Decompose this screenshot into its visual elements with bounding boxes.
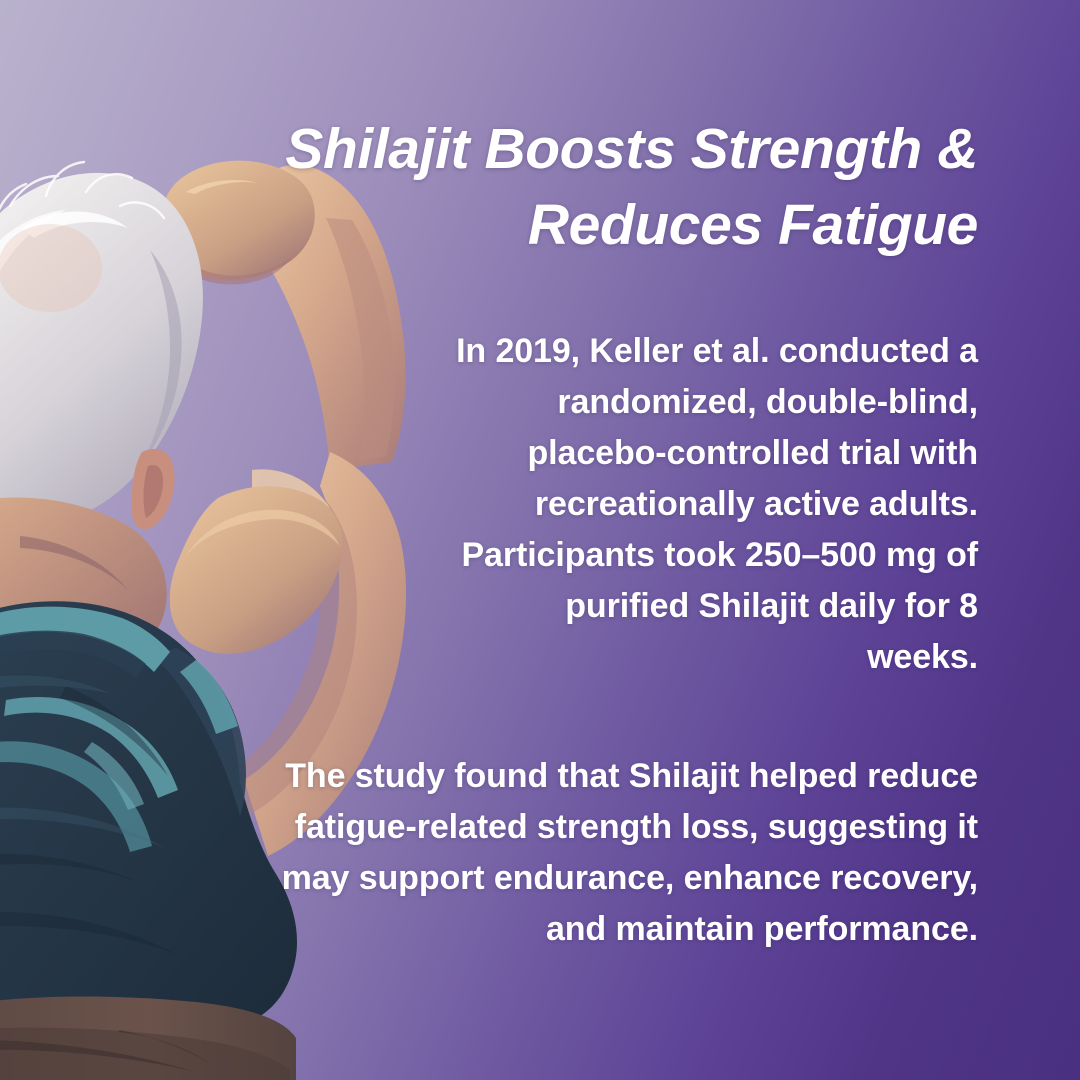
poster-canvas: Shilajit Boosts Strength & Reduces Fatig… [0, 0, 1080, 1080]
study-findings-paragraph: The study found that Shilajit helped red… [262, 751, 978, 955]
page-title: Shilajit Boosts Strength & Reduces Fatig… [218, 112, 978, 264]
tshirt-shape [0, 601, 297, 1047]
study-description-paragraph: In 2019, Keller et al. conducted a rando… [448, 326, 978, 683]
ear-shape [131, 449, 174, 529]
text-column: Shilajit Boosts Strength & Reduces Fatig… [262, 0, 978, 1080]
